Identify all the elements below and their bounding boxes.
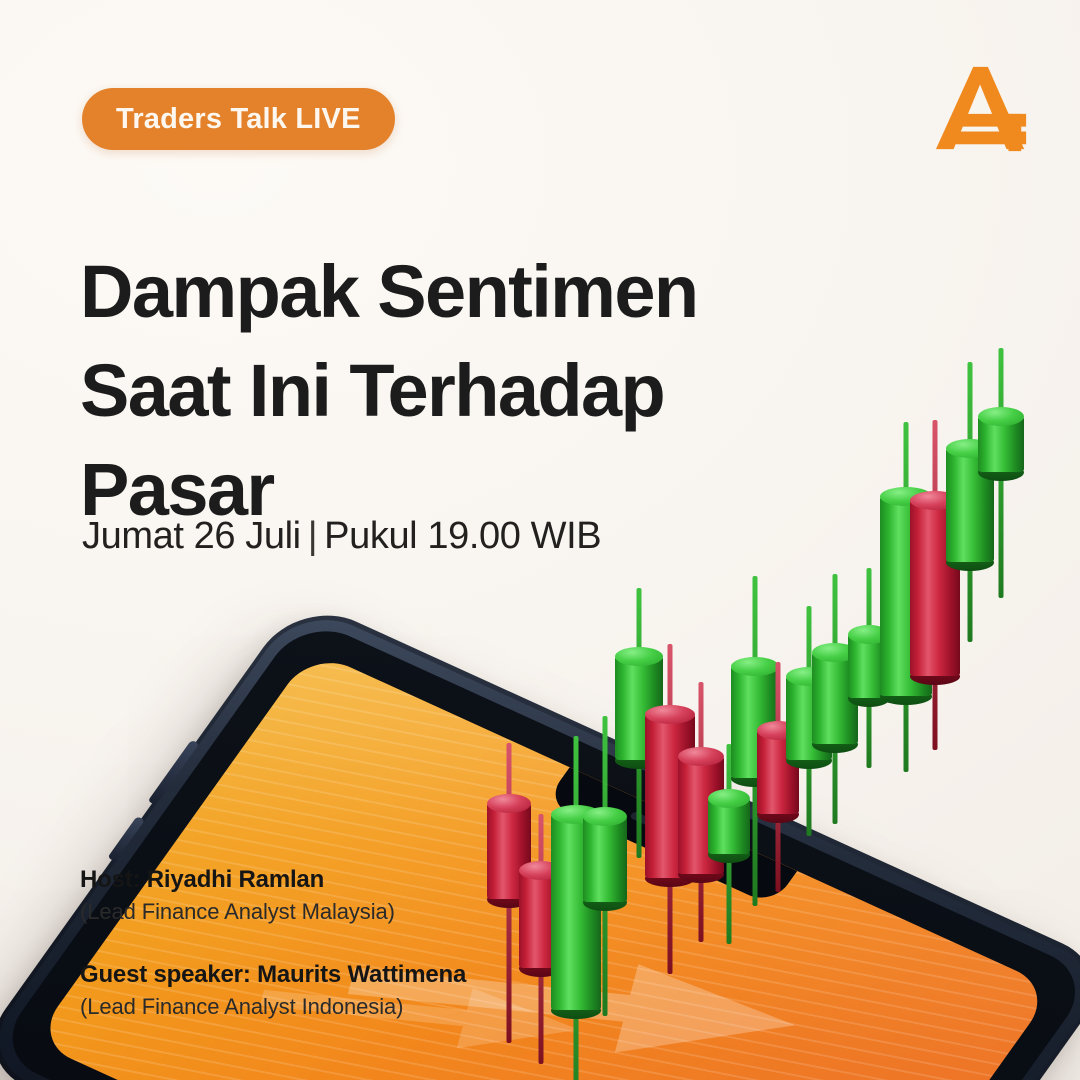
guest-speaker-role: (Lead Finance Analyst Indonesia) bbox=[80, 994, 600, 1020]
speakers-spacer bbox=[80, 925, 600, 961]
headline-line-2: Saat Ini Terhadap bbox=[80, 341, 800, 440]
candlestick-body-cap bbox=[645, 705, 695, 724]
live-badge: Traders Talk LIVE bbox=[82, 88, 395, 150]
candlestick-body-cap bbox=[615, 647, 663, 666]
host-name: Host: Riyadhi Ramlan bbox=[80, 866, 600, 894]
speakers-block: Host: Riyadhi Ramlan (Lead Finance Analy… bbox=[80, 866, 600, 1020]
candlestick-body-cap bbox=[978, 407, 1024, 426]
page-title: Dampak Sentimen Saat Ini Terhadap Pasar bbox=[80, 242, 800, 539]
candlestick-body-cap bbox=[487, 794, 531, 813]
a-mark-logo bbox=[934, 58, 1032, 158]
schedule-time: Pukul 19.00 WIB bbox=[324, 515, 601, 557]
host-role: (Lead Finance Analyst Malaysia) bbox=[80, 899, 600, 925]
candlestick-body-cap bbox=[731, 657, 779, 676]
candlestick-body-cap bbox=[583, 807, 627, 826]
schedule-line: Jumat 26 Juli|Pukul 19.00 WIB bbox=[82, 515, 601, 558]
schedule-separator: | bbox=[301, 515, 324, 557]
headline-line-1: Dampak Sentimen bbox=[80, 242, 800, 341]
guest-speaker-name: Guest speaker: Maurits Wattimena bbox=[80, 961, 600, 989]
live-badge-label: Traders Talk LIVE bbox=[116, 103, 361, 136]
promo-poster: Traders Talk LIVE Dampak Sentimen Saat I… bbox=[0, 0, 1080, 1080]
candlestick-body-cap bbox=[678, 747, 724, 766]
schedule-date: Jumat 26 Juli bbox=[82, 515, 301, 557]
candlestick-body-cap bbox=[708, 789, 750, 808]
